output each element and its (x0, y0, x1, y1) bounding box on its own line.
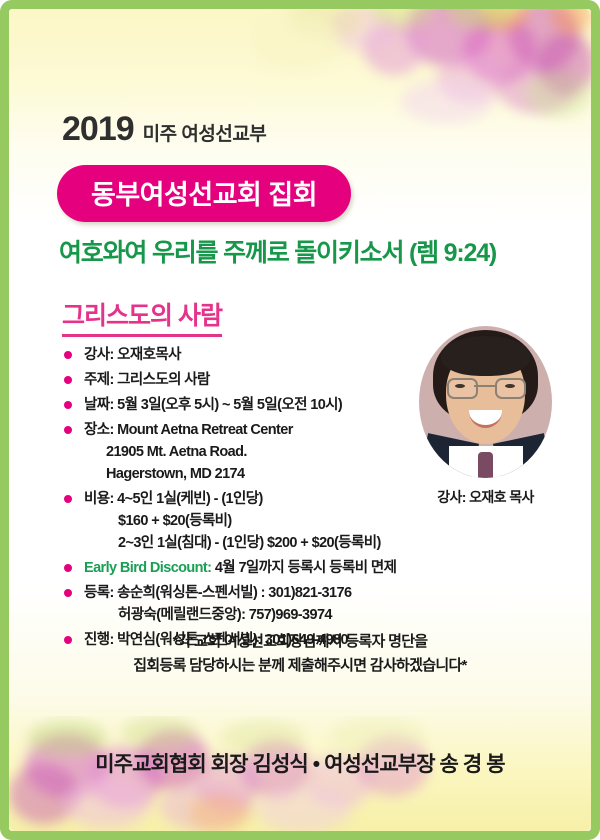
scripture-verse: 여호와여 우리를 주께로 돌이키소서 (렘 9:24) (59, 233, 496, 269)
note-line-1: *각 교회 여성선교회장님께서 등록자 명단을 (173, 633, 428, 650)
detail-text: 강사: 오재호목사 (84, 347, 181, 363)
bullet-icon (64, 495, 72, 503)
early-bird-label: Early Bird Discount: (84, 560, 211, 576)
list-item: 강사: 오재호목사 (62, 344, 452, 366)
detail-subline: Hagerstown, MD 2174 (84, 463, 452, 485)
year-label: 2019 (62, 112, 134, 146)
event-details-list: 강사: 오재호목사 주제: 그리스도의 사람 날짜: 5월 3일(오후 5시) … (62, 344, 452, 654)
detail-subline: 허광숙(메릴랜드중앙): 757)969-3974 (84, 604, 452, 626)
bullet-icon (64, 426, 72, 434)
bullet-icon (64, 351, 72, 359)
detail-text: 비용: 4~5인 1실(케빈) - (1인당) (84, 491, 263, 507)
detail-subline: 2~3인 1실(침대) - (1인당) $200 + $20(등록비) (84, 532, 452, 554)
event-title-badge: 동부여성선교회 집회 (57, 165, 351, 222)
list-item: 주제: 그리스도의 사람 (62, 369, 452, 391)
detail-subline: 21905 Mt. Aetna Road. (84, 441, 452, 463)
bullet-icon (64, 589, 72, 597)
list-item-early-bird: Early Bird Discount: 4월 7일까지 등록시 등록비 면제 (62, 557, 452, 579)
list-item: 날짜: 5월 3일(오후 5시) ~ 5월 5일(오전 10시) (62, 394, 452, 416)
detail-text: 날짜: 5월 3일(오후 5시) ~ 5월 5일(오전 10시) (84, 397, 342, 413)
detail-text: 등록: 송순희(워싱톤-스펜서빌) : 301)821-3176 (84, 585, 351, 601)
detail-text: 장소: Mount Aetna Retreat Center (84, 422, 293, 438)
detail-subline: $160 + $20(등록비) (84, 510, 452, 532)
bullet-icon (64, 564, 72, 572)
early-bird-text: 4월 7일까지 등록시 등록비 면제 (211, 560, 396, 576)
poster-header: 2019 미주 여성선교부 (62, 112, 266, 146)
list-item: 등록: 송순희(워싱톤-스펜서빌) : 301)821-3176 허광숙(메릴랜… (62, 582, 452, 626)
speaker-block: 강사: 오재호 목사 (419, 326, 552, 507)
bullet-icon (64, 401, 72, 409)
bullet-icon (64, 376, 72, 384)
speaker-caption: 강사: 오재호 목사 (419, 487, 552, 507)
note-line-2: 집회등록 담당하시는 분께 제출해주시면 감사하겠습니다* (0, 654, 600, 678)
detail-text: 주제: 그리스도의 사람 (84, 372, 210, 388)
organization-label: 미주 여성선교부 (143, 125, 267, 144)
list-item: 비용: 4~5인 1실(케빈) - (1인당) $160 + $20(등록비) … (62, 488, 452, 554)
theme-heading: 그리스도의 사람 (62, 296, 222, 337)
event-poster: 2019 미주 여성선교부 동부여성선교회 집회 여호와여 우리를 주께로 돌이… (0, 0, 600, 840)
registration-note: *각 교회 여성선교회장님께서 등록자 명단을 집회등록 담당하시는 분께 제출… (0, 630, 600, 679)
signature-line: 미주교회협회 회장 김성식 • 여성선교부장 송 경 봉 (0, 748, 600, 778)
list-item: 장소: Mount Aetna Retreat Center 21905 Mt.… (62, 419, 452, 485)
speaker-portrait-photo (419, 326, 552, 478)
